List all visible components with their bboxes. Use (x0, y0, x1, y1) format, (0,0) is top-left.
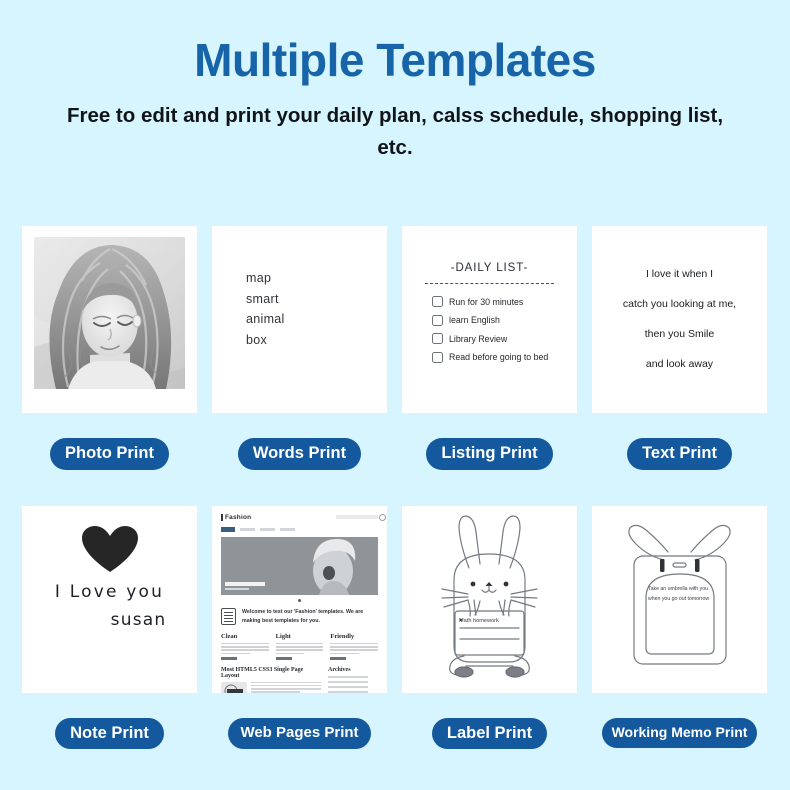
read-more-link[interactable] (330, 657, 346, 659)
checkbox-icon[interactable] (432, 296, 443, 307)
word-item: animal (246, 309, 285, 330)
word-item: box (246, 330, 285, 351)
note-line-2: susan (22, 610, 197, 630)
archives-block: Archives (328, 667, 378, 693)
read-more-link[interactable] (221, 657, 237, 659)
quote-line: then you Smile (592, 320, 767, 350)
memo-note-text: Take an umbrella with you when you go ou… (648, 584, 714, 605)
todo-item[interactable]: learn English (432, 315, 548, 326)
article-heading: Most HTML5 CSS3 Single Page Layout (221, 667, 321, 679)
checkbox-icon[interactable] (432, 352, 443, 363)
hero-image (221, 537, 378, 595)
document-icon (221, 608, 236, 625)
page-title: Multiple Templates (0, 0, 790, 84)
todo-label: learn English (449, 315, 500, 325)
word-item: map (246, 268, 285, 289)
button-wrap-label-print: Label Print (402, 718, 577, 750)
quote-line: catch you looking at me, (592, 290, 767, 320)
quote-line: and look away (592, 350, 767, 380)
todo-item[interactable]: Run for 30 minutes (432, 296, 548, 307)
button-web-pages-print[interactable]: Web Pages Print (228, 718, 370, 750)
template-cell-label-print: Math homework Label Print (402, 506, 577, 750)
column-heading: Clean (221, 633, 269, 640)
word-list: map smart animal box (246, 268, 285, 351)
archives-heading: Archives (328, 667, 378, 673)
webpage-mockup: Fashion (212, 506, 387, 693)
article-block: Most HTML5 CSS3 Single Page Layout (221, 667, 321, 693)
quote-block: I love it when I catch you looking at me… (592, 260, 767, 380)
button-words-print[interactable]: Words Print (238, 438, 361, 470)
todo-item[interactable]: Read before going to bed (432, 352, 548, 363)
welcome-text: Welcome to test our 'Fashion' templates.… (242, 608, 378, 626)
feature-column: Clean (221, 633, 269, 660)
card-words-print[interactable]: map smart animal box (212, 226, 387, 413)
template-cell-working-memo-print: Take an umbrella with you when you go ou… (592, 506, 767, 750)
quote-line: I love it when I (592, 260, 767, 290)
label-note-text: Math homework (459, 618, 499, 624)
button-wrap-web-pages-print: Web Pages Print (212, 718, 387, 750)
card-note-print[interactable]: I Love you susan (22, 506, 197, 693)
card-text-print[interactable]: I love it when I catch you looking at me… (592, 226, 767, 413)
template-cell-listing-print: -DAILY LIST- Run for 30 minutes learn En… (402, 226, 577, 470)
webpage-header: Fashion (221, 514, 378, 521)
column-heading: Friendly (330, 633, 378, 640)
button-wrap-text-print: Text Print (592, 438, 767, 470)
card-web-pages-print[interactable]: Fashion (212, 506, 387, 693)
card-photo-print[interactable] (22, 226, 197, 413)
nav-item[interactable] (240, 528, 255, 531)
welcome-block: Welcome to test our 'Fashion' templates.… (221, 608, 378, 626)
button-wrap-listing-print: Listing Print (402, 438, 577, 470)
word-item: smart (246, 289, 285, 310)
heart-icon (82, 526, 138, 579)
todo-label: Run for 30 minutes (449, 297, 523, 307)
nav-item-active[interactable] (221, 527, 235, 532)
template-cell-text-print: I love it when I catch you looking at me… (592, 226, 767, 470)
button-text-print[interactable]: Text Print (627, 438, 732, 470)
todo-item[interactable]: Library Review (432, 333, 548, 344)
column-heading: Light (276, 633, 324, 640)
checkbox-icon[interactable] (432, 333, 443, 344)
card-listing-print[interactable]: -DAILY LIST- Run for 30 minutes learn En… (402, 226, 577, 413)
todo-list: Run for 30 minutes learn English Library… (432, 296, 548, 370)
daily-list-title: -DAILY LIST- (402, 262, 577, 274)
feature-column: Friendly (330, 633, 378, 660)
feature-column: Light (276, 633, 324, 660)
webpage-nav (221, 527, 378, 532)
nav-item[interactable] (280, 528, 295, 531)
site-logo: Fashion (221, 514, 251, 521)
template-grid: Photo Print map smart animal box Words P… (22, 226, 768, 749)
template-cell-note-print: I Love you susan Note Print (22, 506, 197, 750)
page-root: Multiple Templates Free to edit and prin… (0, 0, 790, 790)
feature-columns: Clean Light Friendly (221, 633, 378, 660)
button-wrap-note-print: Note Print (22, 718, 197, 750)
template-cell-words-print: map smart animal box Words Print (212, 226, 387, 470)
article-thumbnail (221, 682, 247, 693)
todo-label: Read before going to bed (449, 352, 548, 362)
read-more-link[interactable] (276, 657, 292, 659)
search-icon[interactable] (336, 515, 378, 519)
template-cell-web-pages-print: Fashion (212, 506, 387, 750)
photo-thumbnail (34, 237, 185, 389)
todo-label: Library Review (449, 334, 507, 344)
button-listing-print[interactable]: Listing Print (426, 438, 552, 470)
card-label-print[interactable]: Math homework (402, 506, 577, 693)
button-wrap-words-print: Words Print (212, 438, 387, 470)
nav-item[interactable] (260, 528, 275, 531)
hero-caption (225, 582, 265, 590)
button-label-print[interactable]: Label Print (432, 718, 547, 750)
divider-dashed (425, 283, 554, 284)
button-working-memo-print[interactable]: Working Memo Print (602, 718, 758, 749)
template-cell-photo-print: Photo Print (22, 226, 197, 470)
button-note-print[interactable]: Note Print (55, 718, 164, 750)
page-subtitle: Free to edit and print your daily plan, … (0, 100, 790, 164)
note-line-1: I Love you (22, 582, 197, 602)
webpage-bottom: Most HTML5 CSS3 Single Page Layout (221, 667, 378, 693)
checkbox-icon[interactable] (432, 315, 443, 326)
bunny-label-illustration (402, 506, 577, 693)
card-working-memo-print[interactable]: Take an umbrella with you when you go ou… (592, 506, 767, 693)
carousel-dot-icon[interactable] (298, 599, 301, 602)
button-wrap-photo-print: Photo Print (22, 438, 197, 470)
button-wrap-working-memo-print: Working Memo Print (592, 718, 767, 749)
button-photo-print[interactable]: Photo Print (50, 438, 169, 470)
